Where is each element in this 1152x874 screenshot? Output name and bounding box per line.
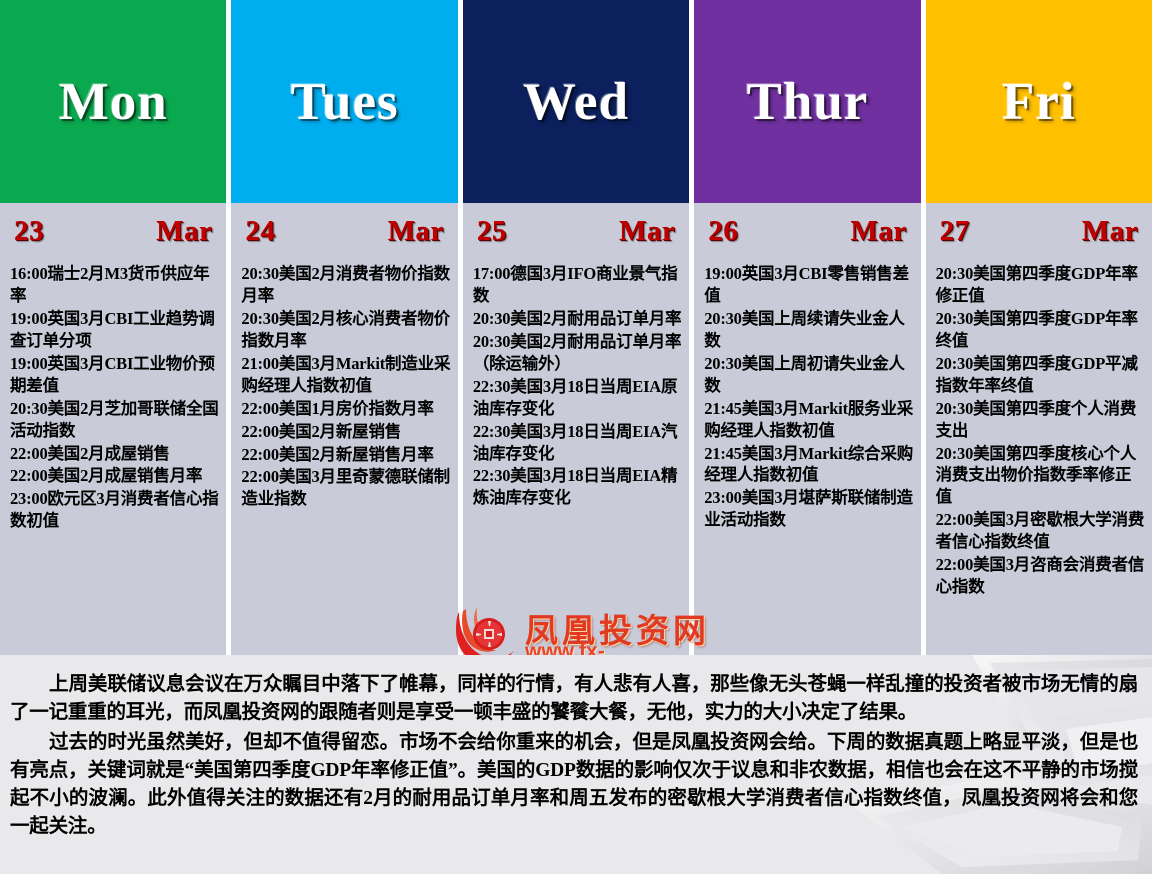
event-item: 20:30美国2月芝加哥联储全国活动指数 [10, 398, 220, 442]
event-item: 20:30美国第四季度GDP年率终值 [936, 308, 1146, 352]
event-list-tues: 20:30美国2月消费者物价指数月率20:30美国2月核心消费者物价指数月率21… [231, 255, 457, 655]
event-item: 23:00欧元区3月消费者信心指数初值 [10, 488, 220, 532]
event-item: 22:00美国2月新屋销售 [241, 421, 451, 443]
day-header-thur: Thur [694, 0, 920, 203]
event-item: 23:00美国3月堪萨斯联储制造业活动指数 [704, 487, 914, 531]
economic-calendar-page: Mon23Mar16:00瑞士2月M3货币供应年率19:00英国3月CBI工业趋… [0, 0, 1152, 874]
day-column-fri: Fri27Mar20:30美国第四季度GDP年率修正值20:30美国第四季度GD… [926, 0, 1152, 655]
event-item: 20:30美国上周续请失业金人数 [704, 308, 914, 352]
event-item: 17:00德国3月IFO商业景气指数 [473, 263, 683, 307]
event-item: 22:00美国2月成屋销售月率 [10, 465, 220, 487]
date-number: 27 [940, 215, 970, 248]
day-column-wed: Wed25Mar17:00德国3月IFO商业景气指数20:30美国2月耐用品订单… [463, 0, 689, 655]
date-row-tues: 24Mar [231, 208, 457, 255]
event-list-thur: 19:00英国3月CBI零售销售差值20:30美国上周续请失业金人数20:30美… [694, 255, 920, 655]
date-number: 23 [14, 215, 44, 248]
date-row-wed: 25Mar [463, 208, 689, 255]
event-item: 20:30美国第四季度个人消费支出 [936, 398, 1146, 442]
date-month: Mar [1082, 215, 1138, 248]
event-item: 20:30美国第四季度GDP年率修正值 [936, 263, 1146, 307]
calendar-grid: Mon23Mar16:00瑞士2月M3货币供应年率19:00英国3月CBI工业趋… [0, 0, 1152, 655]
event-item: 21:45美国3月Markit服务业采购经理人指数初值 [704, 398, 914, 442]
event-item: 20:30美国2月核心消费者物价指数月率 [241, 308, 451, 352]
date-number: 26 [708, 215, 738, 248]
event-item: 19:00英国3月CBI工业趋势调查订单分项 [10, 308, 220, 352]
event-item: 22:00美国2月成屋销售 [10, 443, 220, 465]
day-header-tues: Tues [231, 0, 457, 203]
commentary-panel: 上周美联储议息会议在万众瞩目中落下了帷幕，同样的行情，有人悲有人喜，那些像无头苍… [0, 655, 1152, 874]
commentary-paragraph: 过去的时光虽然美好，但却不值得留恋。市场不会给你重来的机会，但是凤凰投资网会给。… [10, 729, 1138, 842]
event-item: 22:00美国3月里奇蒙德联储制造业指数 [241, 466, 451, 510]
event-item: 22:00美国3月咨商会消费者信心指数 [936, 554, 1146, 598]
column-gutter [921, 0, 926, 655]
date-row-mon: 23Mar [0, 208, 226, 255]
event-item: 22:30美国3月18日当周EIA精炼油库存变化 [473, 465, 683, 509]
column-gutter [226, 0, 231, 655]
date-row-thur: 26Mar [694, 208, 920, 255]
commentary-paragraph: 上周美联储议息会议在万众瞩目中落下了帷幕，同样的行情，有人悲有人喜，那些像无头苍… [10, 671, 1138, 728]
event-item: 20:30美国2月消费者物价指数月率 [241, 263, 451, 307]
date-month: Mar [388, 215, 444, 248]
event-item: 16:00瑞士2月M3货币供应年率 [10, 263, 220, 307]
event-item: 22:30美国3月18日当周EIA原油库存变化 [473, 376, 683, 420]
event-item: 22:00美国3月密歇根大学消费者信心指数终值 [936, 509, 1146, 553]
event-item: 22:00美国1月房价指数月率 [241, 398, 451, 420]
event-item: 20:30美国上周初请失业金人数 [704, 353, 914, 397]
event-item: 21:45美国3月Markit综合采购经理人指数初值 [704, 443, 914, 487]
column-gutter [458, 0, 463, 655]
event-item: 21:00美国3月Markit制造业采购经理人指数初值 [241, 353, 451, 397]
date-row-fri: 27Mar [926, 208, 1152, 255]
event-list-wed: 17:00德国3月IFO商业景气指数20:30美国2月耐用品订单月率20:30美… [463, 255, 689, 655]
day-header-mon: Mon [0, 0, 226, 203]
column-gutter [689, 0, 694, 655]
event-item: 19:00英国3月CBI零售销售差值 [704, 263, 914, 307]
event-item: 22:30美国3月18日当周EIA汽油库存变化 [473, 421, 683, 465]
day-column-mon: Mon23Mar16:00瑞士2月M3货币供应年率19:00英国3月CBI工业趋… [0, 0, 226, 655]
date-month: Mar [850, 215, 906, 248]
date-month: Mar [156, 215, 212, 248]
date-month: Mar [619, 215, 675, 248]
event-item: 20:30美国第四季度GDP平减指数年率终值 [936, 353, 1146, 397]
event-list-fri: 20:30美国第四季度GDP年率修正值20:30美国第四季度GDP年率终值20:… [926, 255, 1152, 655]
event-item: 19:00英国3月CBI工业物价预期差值 [10, 353, 220, 397]
day-header-fri: Fri [926, 0, 1152, 203]
event-item: 22:00美国2月新屋销售月率 [241, 444, 451, 466]
date-number: 25 [477, 215, 507, 248]
day-column-tues: Tues24Mar20:30美国2月消费者物价指数月率20:30美国2月核心消费… [231, 0, 457, 655]
commentary-text: 上周美联储议息会议在万众瞩目中落下了帷幕，同样的行情，有人悲有人喜，那些像无头苍… [0, 655, 1152, 842]
day-column-thur: Thur26Mar19:00英国3月CBI零售销售差值20:30美国上周续请失业… [694, 0, 920, 655]
event-item: 20:30美国第四季度核心个人消费支出物价指数季率修正值 [936, 443, 1146, 509]
event-item: 20:30美国2月耐用品订单月率（除运输外） [473, 331, 683, 375]
date-number: 24 [245, 215, 275, 248]
event-list-mon: 16:00瑞士2月M3货币供应年率19:00英国3月CBI工业趋势调查订单分项1… [0, 255, 226, 655]
day-header-wed: Wed [463, 0, 689, 203]
event-item: 20:30美国2月耐用品订单月率 [473, 308, 683, 330]
